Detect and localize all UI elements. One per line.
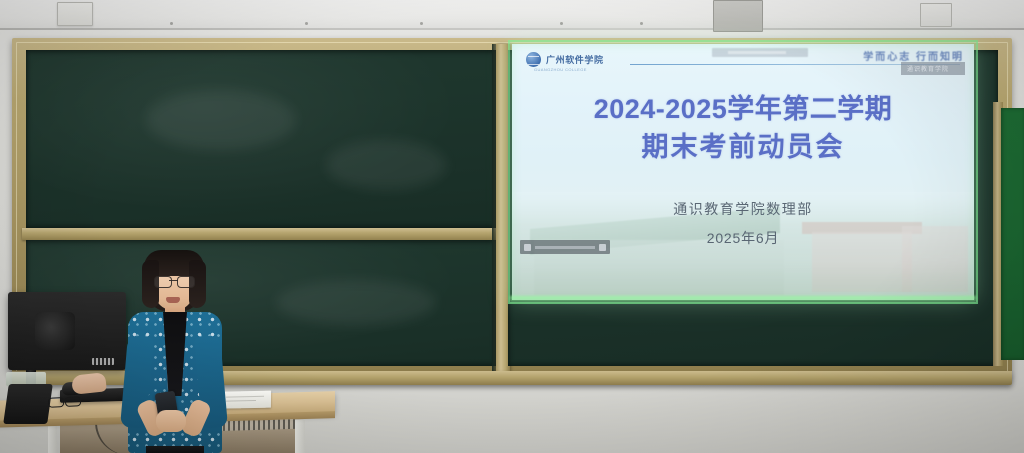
chalkboard-panel-upper-left — [26, 50, 496, 228]
school-motto: 学而心志 行而知明 — [863, 48, 964, 63]
slide-header: 广州软件学院 GUANGZHOU COLLEGE 学而心志 行而知明 通识教育学… — [512, 44, 974, 78]
notebook-line — [226, 396, 264, 398]
eyeglass-lens — [65, 396, 82, 407]
school-logo-subtext: GUANGZHOU COLLEGE — [534, 67, 587, 72]
school-logo-icon — [526, 52, 541, 67]
overlay-chip-icon — [599, 244, 606, 251]
presenter-hand-on-mouse — [71, 372, 107, 394]
slide-header-badge: 通识教育学院 — [901, 62, 965, 75]
chalk-smudge — [146, 90, 296, 150]
wall-seam-line — [0, 28, 1024, 30]
projected-slide: 广州软件学院 GUANGZHOU COLLEGE 学而心志 行而知明 通识教育学… — [512, 44, 974, 300]
campus-foliage — [512, 266, 974, 300]
chalk-smudge — [326, 140, 446, 190]
presenter — [118, 250, 230, 453]
school-logo: 广州软件学院 — [526, 52, 604, 67]
eyeglass-lens — [48, 397, 65, 408]
school-logo-text: 广州软件学院 — [546, 53, 604, 66]
desk-leg — [295, 420, 305, 453]
glasses-lens — [154, 276, 172, 288]
wall-dot-icon — [560, 22, 563, 25]
slide-overlay-chip — [520, 240, 610, 254]
slide-title-block: 2024-2025学年第二学期 期末考前动员会 — [512, 94, 974, 164]
monitor-port-strip — [92, 358, 114, 365]
eyeglasses-icon — [48, 396, 82, 407]
monitor-back-hub — [35, 312, 75, 350]
presenter-glasses-icon — [154, 276, 194, 287]
glasses-bridge — [169, 280, 178, 281]
wall-dot-icon — [640, 22, 643, 25]
monitor-base — [3, 384, 53, 424]
glasses-lens — [177, 276, 195, 288]
wall-vent-icon — [713, 0, 763, 32]
classroom-photo-scene: 广州软件学院 GUANGZHOU COLLEGE 学而心志 行而知明 通识教育学… — [0, 0, 1024, 453]
wall-socket-icon — [920, 3, 952, 27]
eyeglass-bridge — [61, 400, 66, 402]
wall-dot-icon — [420, 22, 423, 25]
chalk-smudge — [276, 280, 436, 325]
wall-fixture-left-icon — [57, 2, 93, 26]
overlay-chip-bar — [535, 246, 595, 249]
wall-dot-icon — [305, 22, 308, 25]
notebook-line — [226, 400, 256, 402]
secondary-green-board — [1001, 108, 1024, 360]
chalkboard-divider-bar — [22, 228, 500, 240]
slide-subtitle-line1: 通识教育学院数理部 — [512, 199, 974, 219]
presenter-lower-garment — [146, 446, 204, 453]
overlay-chip-icon — [524, 244, 531, 251]
wall-dot-icon — [170, 22, 173, 25]
presenter-mouth — [166, 297, 180, 303]
projector-beam-glow — [510, 296, 976, 303]
slide-title-line2: 期末考前动员会 — [512, 132, 974, 164]
slide-title-line1: 2024-2025学年第二学期 — [512, 94, 974, 126]
wall-upper-band — [0, 0, 1024, 30]
presenter-hands — [156, 410, 186, 432]
slide-header-chip — [712, 48, 808, 57]
